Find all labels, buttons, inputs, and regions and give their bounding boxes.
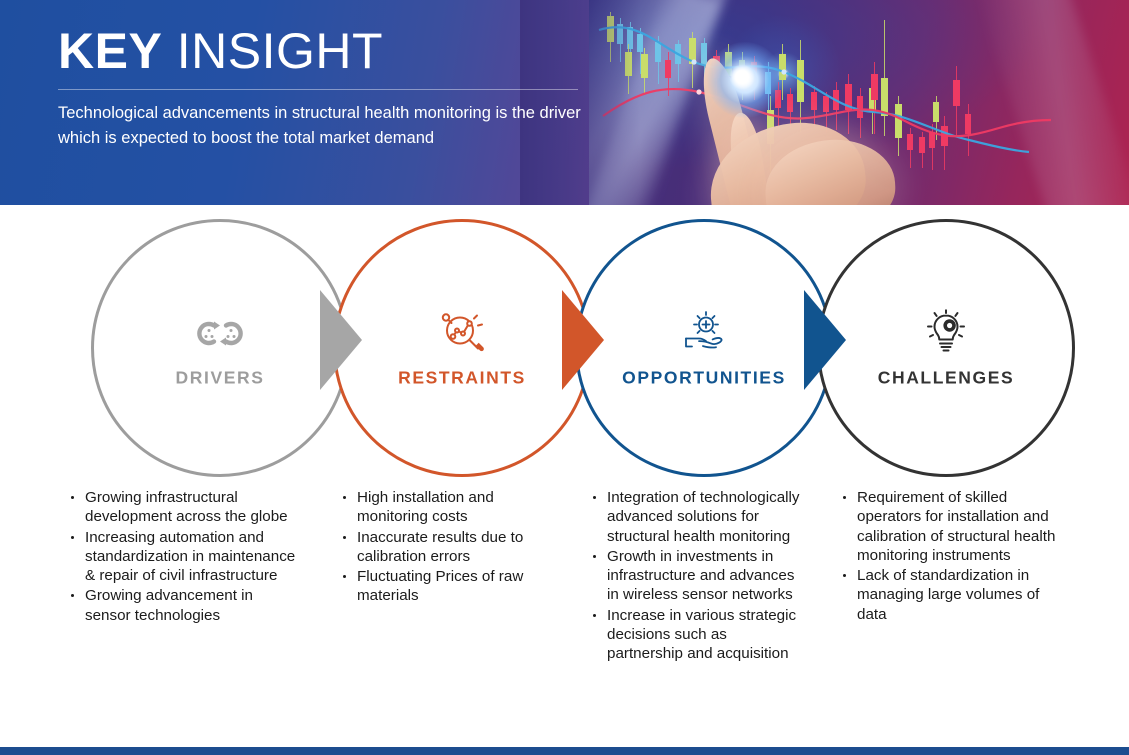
list-item: Integration of technologically advanced … (590, 488, 805, 546)
bullet-column-challenges: Requirement of skilled operators for ins… (840, 488, 1058, 625)
page-title: KEY INSIGHT (58, 24, 598, 78)
pillar-label-drivers: DRIVERS (94, 368, 346, 389)
fingertip-sparkle (729, 64, 755, 90)
cycle-arrows-icon (94, 308, 346, 360)
pillar-circle-restraints[interactable]: RESTRAINTS (333, 219, 591, 477)
list-item: Fluctuating Prices of raw materials (340, 567, 562, 606)
list-item: Increase in various strategic decisions … (590, 606, 805, 664)
pillars-circle-row: DRIVERS (0, 205, 1129, 495)
hand-idea-icon-svg (677, 311, 731, 357)
cycle-arrowhead (220, 338, 226, 346)
pillar-circle-drivers[interactable]: DRIVERS (91, 219, 349, 477)
lightbulb-gear-icon (820, 308, 1072, 360)
pillar-circle-drivers-content: DRIVERS (94, 308, 346, 389)
page-title-light: INSIGHT (177, 23, 383, 79)
lightbulb-gear-icon-svg (921, 310, 971, 358)
cycle-arrowhead (214, 322, 220, 330)
list-item: High installation and monitoring costs (340, 488, 562, 527)
trend-node (696, 89, 701, 94)
bullet-list-drivers: Growing infrastructural development acro… (68, 488, 300, 625)
bullet-list-opportunities: Integration of technologically advanced … (590, 488, 805, 664)
pillar-circle-opportunities-content: OPPORTUNITIES (578, 308, 830, 389)
header-text-block: KEY INSIGHT Technological advancements i… (58, 24, 598, 151)
page-title-strong: KEY (58, 23, 162, 79)
pillar-label-challenges: CHALLENGES (820, 368, 1072, 389)
magnifier-chart-icon-svg (436, 310, 488, 358)
pillar-circle-challenges[interactable]: CHALLENGES (817, 219, 1075, 477)
bullet-list-challenges: Requirement of skilled operators for ins… (840, 488, 1058, 624)
header-subtitle: Technological advancements in structural… (58, 101, 588, 151)
pillar-circle-opportunities[interactable]: OPPORTUNITIES (575, 219, 833, 477)
banner-photo (589, 0, 1129, 205)
list-item: Inaccurate results due to calibration er… (340, 528, 562, 567)
list-item: Growing advancement in sensor technologi… (68, 586, 300, 625)
hand-idea-icon (578, 308, 830, 360)
bullet-list-restraints: High installation and monitoring costs I… (340, 488, 562, 606)
arrow-drivers-to-restraints (320, 290, 362, 390)
arrow-restraints-to-opportunities (562, 290, 604, 390)
list-item: Increasing automation and standardizatio… (68, 528, 300, 586)
arrow-opportunities-to-challenges (804, 290, 846, 390)
trend-node (691, 59, 696, 64)
list-item: Requirement of skilled operators for ins… (840, 488, 1058, 565)
pillar-label-restraints: RESTRAINTS (336, 368, 588, 389)
header-banner: KEY INSIGHT Technological advancements i… (0, 0, 1129, 205)
pillar-label-opportunities: OPPORTUNITIES (578, 368, 830, 389)
bullet-column-restraints: High installation and monitoring costs I… (340, 488, 562, 607)
bullet-column-drivers: Growing infrastructural development acro… (68, 488, 300, 626)
bullet-column-opportunities: Integration of technologically advanced … (590, 488, 805, 665)
pillars-bullets-row: Growing infrastructural development acro… (0, 488, 1129, 743)
list-item: Growth in investments in infrastructure … (590, 547, 805, 605)
title-divider (58, 89, 578, 90)
list-item: Lack of standardization in managing larg… (840, 566, 1058, 624)
pillar-circle-challenges-content: CHALLENGES (820, 308, 1072, 389)
footer-accent-bar (0, 747, 1129, 755)
magnifier-chart-icon (336, 308, 588, 360)
list-item: Growing infrastructural development acro… (68, 488, 300, 527)
pillar-circle-restraints-content: RESTRAINTS (336, 308, 588, 389)
cycle-arrows-icon-svg (194, 314, 246, 354)
gear-hub (947, 323, 952, 328)
